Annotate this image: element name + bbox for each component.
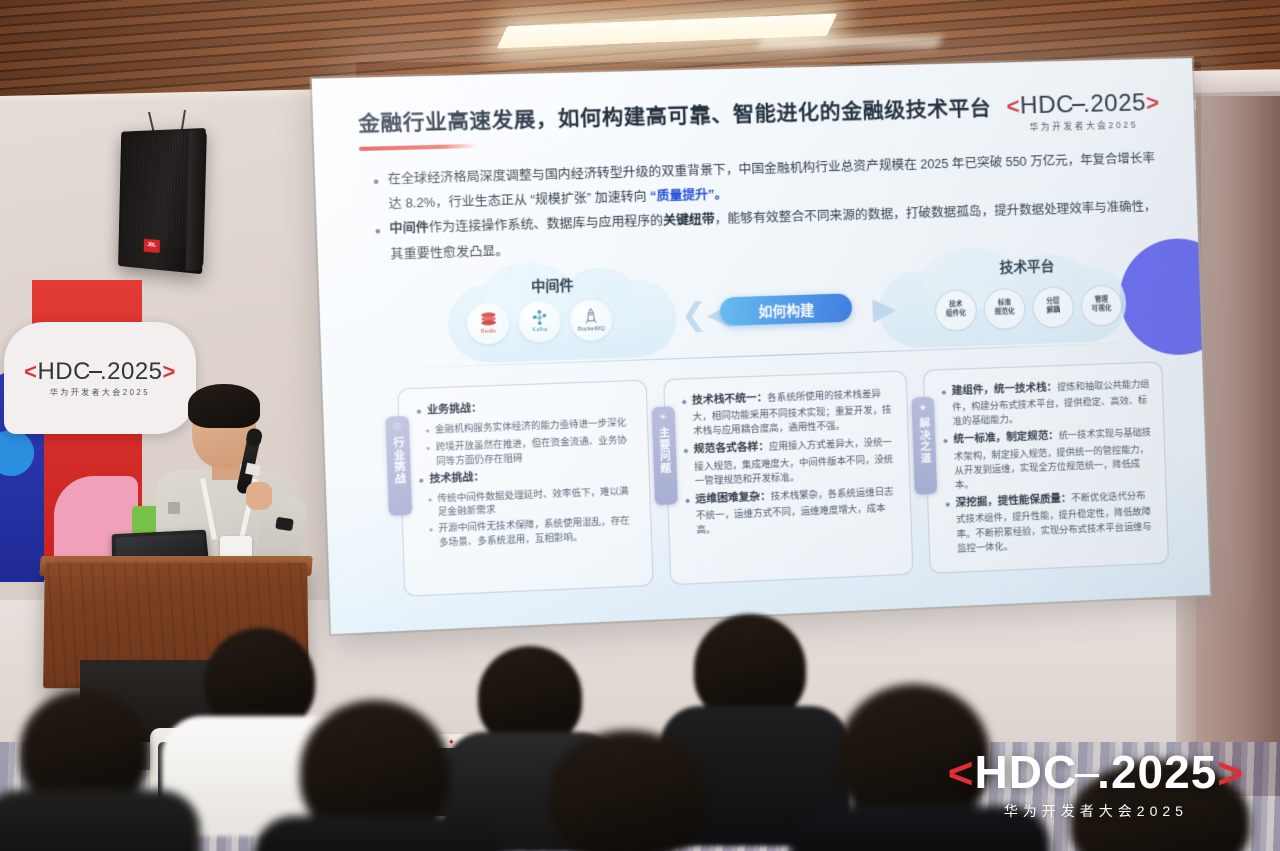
tab-solutions[interactable]: ★ 解决之道 xyxy=(912,397,938,495)
column-solutions: ★ 解决之道 ● 建组件，统一技术栈：提炼和抽取公共能力组件，构建分布式技术平台… xyxy=(923,361,1169,574)
middleware-icon-row: Redis Kafka xyxy=(466,299,612,345)
slide-title-block: 金融行业高速发展，如何构建高可靠、智能进化的金融级技术平台 xyxy=(357,91,992,150)
point-dot-icon: ● xyxy=(945,496,953,556)
hdc-word: HDC xyxy=(975,746,1078,798)
subpoint-dot-icon: ● xyxy=(427,492,432,521)
bullet-lead: 作为连接操作系统、数据库与应用程序的 xyxy=(429,214,664,235)
ceiling-light-glow xyxy=(757,36,943,48)
audience-shoulders xyxy=(254,816,504,851)
hdc-watermark: <HDC.2025> 华为开发者大会2025 xyxy=(948,745,1244,821)
chevron-left-icon: < xyxy=(1006,93,1020,119)
hdc-word: HDC xyxy=(1020,91,1075,120)
tab-label: 行业挑战 xyxy=(391,436,406,484)
hdc-logo-text: <HDC.2025> xyxy=(1006,89,1160,121)
slide-columns: ☉ 行业挑战 ● 业务挑战： ● 金融机构服务实体经济的能力亟待进一步深化 ● … xyxy=(367,361,1175,598)
subpoint-dot-icon: ● xyxy=(425,423,430,439)
point-dot-icon: ● xyxy=(416,403,422,420)
point-dot-icon: ● xyxy=(943,433,951,493)
point-title: 业务挑战： xyxy=(427,403,482,416)
subpoint-text: 开源中间件无技术保障，系统使用混乱，存在多场景、多系统混用，互相影响。 xyxy=(438,514,638,551)
tab-label: 主要问题 xyxy=(657,427,672,474)
shirt-logo xyxy=(168,502,180,514)
platform-chip-row: 技术 组件化 标准 规范化 分层 解耦 管理 可视化 xyxy=(934,284,1123,331)
point-title: 深挖掘，提性能保质量： xyxy=(955,494,1071,510)
hdc-year: 2025 xyxy=(1090,89,1147,117)
slide-header: 金融行业高速发展，如何构建高可靠、智能进化的金融级技术平台 <HDC.2025>… xyxy=(357,87,1160,151)
conference-room-scene: JBL 金融行业高速发展，如何构建高可靠、智能进化的金融级技术平台 <HDC.2… xyxy=(0,0,1280,851)
platform-cloud-label: 技术平台 xyxy=(999,254,1054,276)
hdc-logo-text: <HDC.2025> xyxy=(948,745,1244,799)
rocketmq-glyph xyxy=(583,307,598,325)
jbl-speaker: JBL xyxy=(118,128,206,274)
point-item: ● 运维困难复杂：技术栈繁杂，各系统运维日志不统一，运维方式不同，运维难度增大，… xyxy=(684,484,898,538)
presenter-hand-holding-mic xyxy=(246,482,272,510)
audience-shoulders xyxy=(0,790,200,851)
hdc-logo-text: <HDC.2025> xyxy=(24,358,176,386)
platform-chip: 分层 解耦 xyxy=(1032,286,1075,329)
point-title: 统一标准，制定规范： xyxy=(953,431,1059,446)
point-dot-icon: ● xyxy=(683,443,690,489)
hdc-word: HDC xyxy=(37,358,91,385)
point-item: ● 建组件，统一技术栈：提炼和抽取公共能力组件，构建分布式技术平台，提供稳定、高… xyxy=(941,377,1151,430)
point-title: 运维困难复杂： xyxy=(695,491,771,505)
audience-head xyxy=(548,730,708,851)
bullet-dot-icon: ● xyxy=(374,217,382,267)
jbl-logo: JBL xyxy=(144,239,160,253)
chevron-right-icon: > xyxy=(163,359,176,384)
subpoint-item: ● 开源中间件无技术保障，系统使用混乱，存在多场景、多系统混用，互相影响。 xyxy=(428,514,638,551)
hdc-subtitle: 华为开发者大会2025 xyxy=(1007,118,1160,134)
subpoint-dot-icon: ● xyxy=(428,523,433,552)
speaker-side-panel xyxy=(186,130,207,272)
slide-bullets: ● 在全球经济格局深度调整与国内经济转型升级的双重背景下，中国金融机构行业总资产… xyxy=(360,146,1165,267)
tab-main-problems[interactable]: ☀ 主要问题 xyxy=(651,406,677,505)
point-title: 规范各式各样： xyxy=(694,442,770,456)
tab-industry-challenges[interactable]: ☉ 行业挑战 xyxy=(385,416,412,516)
presenter-watch xyxy=(275,517,294,532)
hdc-year: 2025 xyxy=(107,358,162,385)
platform-chip: 技术 组件化 xyxy=(934,289,977,332)
point-title: 技术栈不统一： xyxy=(692,392,768,406)
platform-chip: 标准 规范化 xyxy=(983,287,1026,330)
chevron-left-icon: < xyxy=(948,749,975,798)
hdc-year: 2025 xyxy=(1111,746,1217,798)
hdc-underscore-mark xyxy=(1075,774,1099,777)
point-dot-icon: ● xyxy=(941,384,948,429)
how-to-build-button[interactable]: 如何构建 xyxy=(720,293,853,326)
slide-hdc-logo: <HDC.2025> 华为开发者大会2025 xyxy=(1006,87,1160,134)
bullet-bold-mid: 关键纽带 xyxy=(663,212,715,228)
page-title: 金融行业高速发展，如何构建高可靠、智能进化的金融级技术平台 xyxy=(357,91,991,145)
bullet-bold-lead: 中间件 xyxy=(389,221,429,237)
projection-screen: 金融行业高速发展，如何构建高可靠、智能进化的金融级技术平台 <HDC.2025>… xyxy=(312,58,1211,634)
hdc-subtitle: 华为开发者大会2025 xyxy=(50,387,150,398)
rocketmq-label: RocketMQ xyxy=(578,326,606,333)
presenter-hair xyxy=(188,384,260,428)
right-wall-column xyxy=(1196,96,1280,796)
kafka-icon: Kafka xyxy=(518,300,561,342)
column-industry-challenges: ☉ 行业挑战 ● 业务挑战： ● 金融机构服务实体经济的能力亟待进一步深化 ● … xyxy=(397,379,653,596)
kafka-label: Kafka xyxy=(532,327,547,334)
audience-head xyxy=(478,646,582,746)
point-title: 技术挑战： xyxy=(429,471,484,484)
star-icon: ★ xyxy=(919,402,929,413)
redis-icon: Redis xyxy=(466,302,510,345)
tab-label: 解决之道 xyxy=(917,417,932,464)
chevron-right-icon: > xyxy=(1146,90,1160,115)
bullet-dot-icon: ● xyxy=(372,167,380,217)
point-item: ● 技术栈不统一：各系统所使用的技术栈差异大，相同功能采用不同技术实现；重复开发… xyxy=(681,386,896,439)
redis-glyph xyxy=(479,312,497,328)
kafka-glyph xyxy=(531,310,548,327)
point-item: ● 统一标准，制定规范：统一技术实现与基础技术架构，制定接入规范，提供统一的管控… xyxy=(943,425,1154,492)
platform-chip: 管理 可视化 xyxy=(1080,284,1123,327)
hdc-dot: . xyxy=(1097,746,1111,798)
point-item: ● 深挖掘，提性能保质量：不断优化迭代分布式技术组件，提升性能，提升稳定性，降低… xyxy=(945,488,1156,556)
chevron-right-icon: > xyxy=(1217,749,1244,798)
subpoint-dot-icon: ● xyxy=(426,441,431,470)
hdc-subtitle: 华为开发者大会2025 xyxy=(948,801,1244,821)
lightbulb-icon: ☀ xyxy=(658,411,668,423)
middleware-platform-diagram: 中间件 技术平台 Redis xyxy=(364,257,1168,371)
middleware-cloud-label: 中间件 xyxy=(531,273,574,295)
point-dot-icon: ● xyxy=(681,393,688,439)
column-main-problems: ☀ 主要问题 ● 技术栈不统一：各系统所使用的技术栈差异大，相同功能采用不同技术… xyxy=(663,370,914,585)
rocketmq-icon: RocketMQ xyxy=(569,299,612,341)
presentation-slide: 金融行业高速发展，如何构建高可靠、智能进化的金融级技术平台 <HDC.2025>… xyxy=(312,58,1211,634)
title-underline xyxy=(359,144,478,151)
point-title: 建组件，统一技术栈： xyxy=(952,382,1058,397)
point-item: ● 规范各式各样：应用接入方式差异大，没统一接入规范，集成难度大，中间件版本不同… xyxy=(683,435,898,489)
bullet-highlight: “质量提升”。 xyxy=(650,187,728,203)
redis-label: Redis xyxy=(481,328,496,335)
question-circle-icon: ☉ xyxy=(392,421,402,433)
point-dot-icon: ● xyxy=(684,492,691,538)
point-dot-icon: ● xyxy=(418,472,424,489)
chevron-left-icon: < xyxy=(24,359,37,384)
